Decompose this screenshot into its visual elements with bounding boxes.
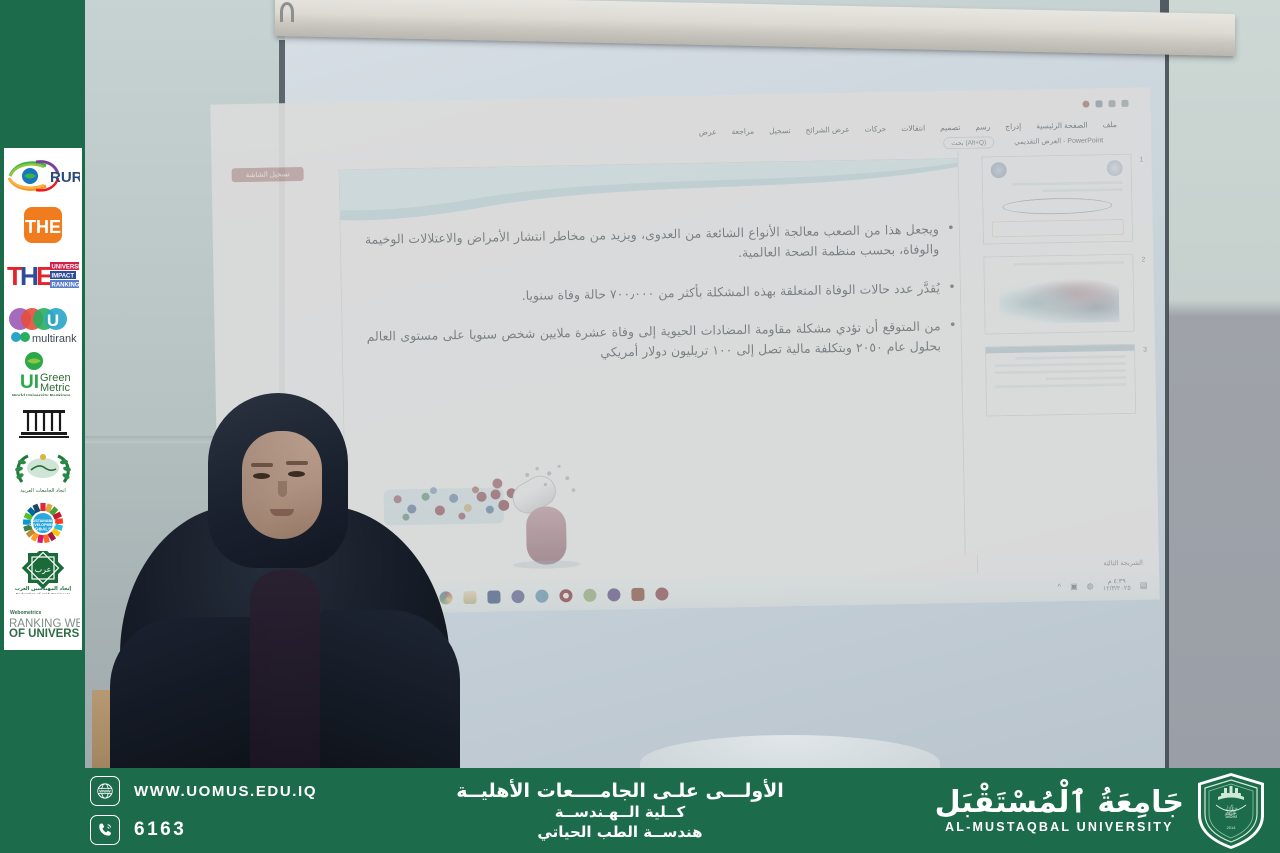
slide-bullet-3: من المتوقع أن تؤدي مشكلة مقاومة المضادات…	[366, 316, 957, 367]
federation-of-arab-engineers-logo: عرب إتحاد المهندسين العرب Federation of …	[6, 551, 80, 595]
the-world-university-rankings-logo: THE	[6, 204, 80, 248]
ribbon-tab-design[interactable]: تصميم	[940, 122, 960, 131]
association-of-arab-universities-logo: اتحاد الجامعات العربية	[6, 452, 80, 496]
footer-website-text[interactable]: WWW.UOMUS.EDU.IQ	[134, 783, 317, 800]
svg-text:G⊜ALS: G⊜ALS	[35, 526, 52, 531]
accreditation-logo-sidebar: RUR THE T H E UNIVERSITY	[0, 0, 85, 853]
svg-text:UI: UI	[20, 372, 39, 393]
presenter-person	[120, 385, 450, 795]
svg-text:THE: THE	[25, 217, 61, 237]
taskbar-viber-icon[interactable]	[607, 588, 620, 601]
svg-text:RUR: RUR	[50, 169, 80, 186]
slide-bullet-list: ويجعل هذا من الصعب معالجة الأنواع الشائع…	[365, 219, 958, 385]
svg-text:OF UNIVERSITIES: OF UNIVERSITIES	[9, 628, 80, 639]
presenter-nose	[278, 481, 287, 497]
university-name-arabic: جَامِعَةُ ٱلْمُسْتَقْبَل	[935, 787, 1184, 819]
footer-faculty-block: الأولـــى علـى الجامــــعات الأهليــة كـ…	[330, 780, 910, 841]
u-multirank-logo: U multirank	[6, 303, 80, 347]
taskbar-media-icon[interactable]	[655, 587, 668, 600]
window-title: العرض التقديمي - PowerPoint	[1014, 136, 1103, 146]
ribbon-tab-file[interactable]: ملف	[1103, 120, 1117, 129]
taskbar-folder-icon[interactable]	[464, 590, 477, 603]
ribbon-tab-slideshow[interactable]: عرض الشرائح	[806, 124, 850, 134]
tray-network-icon[interactable]: ▣	[1070, 581, 1078, 590]
screenshot-root: ملف الصفحة الرئيسية إدراج رسم تصميم انتق…	[0, 0, 1280, 853]
globe-www-icon: WWW	[90, 776, 120, 806]
footer-phone-number[interactable]: 6163	[134, 819, 186, 841]
ribbon-tab-insert[interactable]: إدراج	[1005, 121, 1021, 130]
slide-bullet-2: يُقدَّر عدد حالات الوفاة المتعلقة بهذه ا…	[366, 278, 956, 309]
unesco-logo	[6, 402, 80, 446]
screen-pull-hook-icon	[280, 2, 294, 22]
taskbar-telegram-icon[interactable]	[536, 589, 549, 602]
svg-text:WWW: WWW	[99, 788, 111, 793]
svg-text:multirank: multirank	[32, 333, 77, 345]
ribbon-search-box[interactable]: بحث (Alt+Q)	[943, 136, 994, 149]
svg-text:ﷺ: ﷺ	[1224, 804, 1239, 820]
save-icon[interactable]	[1095, 100, 1102, 107]
presenter-eye-left	[253, 473, 270, 479]
the-university-impact-rankings-logo: T H E UNIVERSITY IMPACT RANKINGS	[6, 253, 80, 297]
svg-text:2014: 2014	[1227, 825, 1237, 830]
slide-thumbnail-number-1: 1	[1140, 157, 1144, 164]
slide-thumbnail-3[interactable]: 3	[985, 344, 1136, 417]
tray-chevron-up-icon[interactable]: ^	[1057, 582, 1061, 591]
undo-icon[interactable]	[1108, 100, 1115, 107]
presenter-brow-right	[286, 461, 308, 465]
autosave-toggle-icon[interactable]	[1121, 99, 1128, 106]
taskbar-clock[interactable]: ٤:٣٩ م ١٢/٣/٢٠٢٥	[1103, 577, 1131, 592]
footer-brand-block: جَامِعَةُ ٱلْمُسْتَقْبَل AL-MUSTAQBAL UN…	[910, 771, 1280, 851]
thumbnail-header-bar	[986, 345, 1134, 354]
logo-card: RUR THE T H E UNIVERSITY	[4, 148, 82, 650]
presenter-eye-right	[288, 471, 305, 477]
slide-thumbnail-number-3: 3	[1143, 347, 1147, 354]
ribbon-tab-record[interactable]: تسجيل	[769, 126, 791, 135]
slide-bullet-1: ويجعل هذا من الصعب معالجة الأنواع الشائع…	[365, 219, 956, 270]
ribbon-tab-transitions[interactable]: انتقالات	[901, 123, 925, 132]
footer-department-name: هندســة الطب الحياتي	[537, 823, 702, 841]
svg-text:RANKINGS: RANKINGS	[52, 282, 81, 288]
presenter-brow-left	[251, 463, 273, 467]
svg-text:عرب: عرب	[35, 565, 52, 574]
footer-phone-row[interactable]: 6163	[90, 815, 330, 845]
svg-text:U: U	[47, 311, 59, 330]
university-wordmark: جَامِعَةُ ٱلْمُسْتَقْبَل AL-MUSTAQBAL UN…	[935, 787, 1184, 834]
taskbar-system-tray[interactable]: ^ ▣ ◍ ٤:٣٩ م ١٢/٣/٢٠٢٥ ▤	[1057, 577, 1147, 594]
footer-tagline-rank: الأولـــى علـى الجامــــعات الأهليــة	[456, 780, 784, 802]
svg-text:IMPACT: IMPACT	[52, 273, 75, 279]
webometrics-ranking-web-logo: Webometrics RANKING WEB OF UNIVERSITIES	[6, 600, 80, 644]
ribbon-tab-view[interactable]: عرض	[699, 127, 717, 136]
tray-volume-icon[interactable]: ◍	[1087, 581, 1094, 590]
status-slide-indicator: الشريحة الثالثة	[1103, 559, 1143, 568]
taskbar-powerpoint-icon[interactable]	[631, 587, 644, 600]
phone-icon	[90, 815, 120, 845]
slide-thumbnail-number-2: 2	[1141, 257, 1145, 264]
record-screen-button[interactable]: تسجيل الشاشة	[232, 167, 304, 182]
presenter-mouth	[270, 509, 294, 516]
taskbar-teams-icon[interactable]	[512, 589, 525, 602]
tray-notifications-icon[interactable]: ▤	[1140, 580, 1148, 589]
ui-greenmetric-logo: UI Green Metric World University Ranking…	[6, 352, 80, 396]
taskbar-antivirus-icon[interactable]	[584, 588, 597, 601]
university-name-english: AL-MUSTAQBAL UNIVERSITY	[945, 820, 1174, 834]
slide-header-wave-decoration	[340, 159, 971, 227]
ribbon-tab-home[interactable]: الصفحة الرئيسية	[1036, 120, 1088, 130]
svg-text:Webometrics: Webometrics	[10, 610, 42, 616]
svg-text:Federation of Arab Engineers: Federation of Arab Engineers	[16, 592, 70, 595]
sustainable-development-goals-logo: SUSTAINABLE DEVELOPMENT G⊜ALS	[6, 501, 80, 545]
svg-text:UNIVERSITY: UNIVERSITY	[52, 264, 81, 270]
university-footer-bar: WWW WWW.UOMUS.EDU.IQ 6163 الأولـــى علـى…	[0, 768, 1280, 853]
taskbar-opera-icon[interactable]	[560, 589, 573, 602]
ribbon-tab-animations[interactable]: حركات	[864, 124, 886, 133]
footer-college-name: كــلية الــهـندســة	[555, 803, 686, 821]
thumbnail-bacteria-art-icon	[999, 270, 1120, 324]
slide-thumbnail-2[interactable]: 2	[983, 254, 1134, 335]
room-side-wall	[1168, 0, 1280, 790]
al-mustaqbal-shield-emblem: ﷺ 2014	[1194, 771, 1268, 851]
thumbnail-subtitle-box	[992, 219, 1124, 237]
close-icon[interactable]	[1082, 100, 1089, 107]
slide-thumbnail-panel[interactable]: 1 2 3	[957, 147, 1154, 554]
presenter-scarf	[250, 570, 320, 785]
window-controls[interactable]	[1082, 99, 1128, 107]
slide-thumbnail-1[interactable]: 1	[981, 154, 1133, 245]
ribbon-tab-review[interactable]: مراجعة	[731, 126, 754, 135]
footer-contact-block: WWW WWW.UOMUS.EDU.IQ 6163	[0, 776, 330, 845]
thumbnail-title-oval	[1002, 197, 1112, 215]
svg-text:اتحاد الجامعات العربية: اتحاد الجامعات العربية	[20, 488, 66, 494]
ribbon-tab-draw[interactable]: رسم	[975, 122, 990, 131]
taskbar-word-icon[interactable]	[488, 590, 501, 603]
svg-text:World University Rankings: World University Rankings	[12, 393, 71, 396]
rur-rankings-logo: RUR	[6, 154, 80, 198]
footer-website-row[interactable]: WWW WWW.UOMUS.EDU.IQ	[90, 776, 330, 806]
clock-date: ١٢/٣/٢٠٢٥	[1103, 585, 1131, 593]
